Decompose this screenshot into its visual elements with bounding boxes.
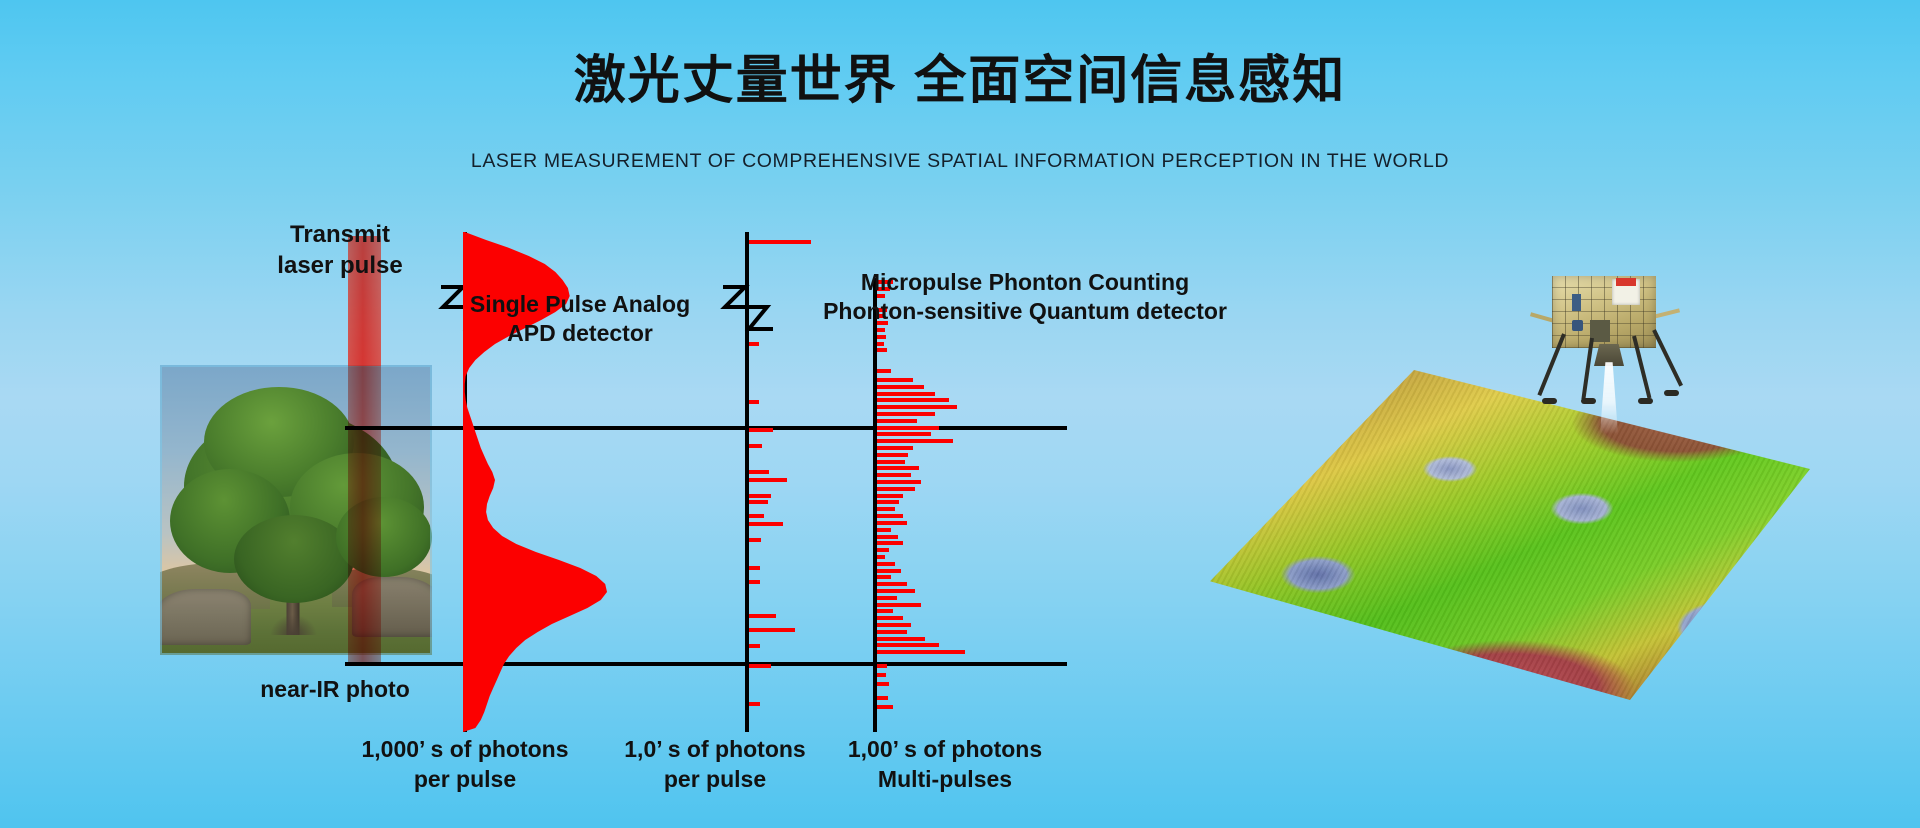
- lander-red-marking: [1616, 278, 1636, 286]
- lunar-lander: [1528, 276, 1688, 408]
- photon-return-bar: [749, 644, 760, 648]
- photon-return-bar: [877, 541, 903, 545]
- caption-analog-line2: per pulse: [330, 765, 600, 795]
- lidar-terrain-visualization: [1180, 270, 1880, 720]
- photon-return-bar: [877, 535, 898, 539]
- caption-micropulse-line1: 1,00’ s of photons: [820, 735, 1070, 765]
- photon-return-bar: [877, 487, 915, 491]
- photon-return-bar: [877, 460, 905, 464]
- photon-return-bar: [877, 398, 949, 402]
- photon-return-bar: [749, 500, 768, 504]
- photon-return-bar: [877, 426, 939, 430]
- photon-return-bar: [749, 494, 771, 498]
- caption-single-photon: 1,0’ s of photons per pulse: [600, 735, 830, 795]
- transmit-pulse-label-line1: Transmit: [230, 220, 450, 251]
- photon-return-bar: [877, 348, 887, 352]
- photon-return-bar: [877, 603, 921, 607]
- lidar-waveform-diagram: Transmit laser pulse Single Pulse Analog…: [0, 0, 1120, 828]
- photon-return-bar: [877, 673, 886, 677]
- photon-return-bar: [877, 555, 885, 559]
- photon-return-bar: [877, 405, 957, 409]
- photon-return-bar: [749, 522, 783, 526]
- photon-return-bar: [749, 664, 771, 668]
- photon-return-bar: [749, 240, 811, 244]
- photon-return-bar: [877, 569, 901, 573]
- photon-return-bar: [877, 637, 925, 641]
- near-ir-tree-photo: [160, 365, 432, 655]
- photon-return-bar: [877, 650, 965, 654]
- photon-return-bar: [749, 614, 776, 618]
- photon-return-bar: [877, 528, 891, 532]
- photon-return-bar: [877, 335, 886, 339]
- photon-return-bar: [877, 446, 913, 450]
- lander-footpad: [1638, 398, 1653, 404]
- photo-border: [160, 365, 432, 655]
- photon-return-bar: [877, 500, 899, 504]
- photon-return-bar: [749, 566, 760, 570]
- photon-return-bar: [749, 342, 759, 346]
- photon-return-bar: [877, 596, 897, 600]
- near-ir-photo-label: near-IR photo: [200, 675, 470, 704]
- photon-return-bar: [749, 702, 760, 706]
- photon-return-bar: [877, 630, 907, 634]
- photon-return-bar: [749, 538, 761, 542]
- photon-return-bar: [877, 696, 888, 700]
- terrain-texture: [1210, 370, 1810, 700]
- photon-return-bar: [877, 507, 895, 511]
- photon-return-bar: [877, 705, 893, 709]
- lander-footpad: [1542, 398, 1557, 404]
- single-pulse-label-line1: Single Pulse Analog: [430, 290, 730, 319]
- photon-return-bar: [877, 453, 908, 457]
- photon-return-bar: [749, 444, 762, 448]
- caption-single-photon-line2: per pulse: [600, 765, 830, 795]
- micropulse-histogram: [877, 278, 1052, 732]
- photon-return-bar: [877, 609, 893, 613]
- transmit-pulse-label: Transmit laser pulse: [230, 220, 450, 281]
- caption-micropulse: 1,00’ s of photons Multi-pulses: [820, 735, 1070, 795]
- photon-return-bar: [877, 575, 891, 579]
- single-pulse-label-line2: APD detector: [430, 319, 730, 348]
- photon-return-bar: [877, 480, 921, 484]
- photon-return-bar: [877, 582, 907, 586]
- transmit-pulse-label-line2: laser pulse: [230, 251, 450, 282]
- photon-return-bar: [877, 342, 884, 346]
- photon-return-bar: [877, 682, 889, 686]
- lander-instrument-left: [1572, 294, 1581, 311]
- photon-return-bar: [877, 664, 887, 668]
- photon-return-bar: [749, 428, 773, 432]
- lander-instrument-lower: [1572, 320, 1583, 331]
- caption-analog-line1: 1,000’ s of photons: [330, 735, 600, 765]
- photon-return-bar: [877, 378, 913, 382]
- photon-return-bar: [749, 400, 759, 404]
- single-pulse-detector-label: Single Pulse Analog APD detector: [430, 290, 730, 349]
- photon-return-bar: [877, 328, 885, 332]
- photon-return-bar: [877, 439, 953, 443]
- photon-return-bar: [749, 470, 769, 474]
- lander-engine-plume: [1600, 362, 1618, 434]
- photon-return-bar: [877, 623, 911, 627]
- photon-return-bar: [877, 616, 903, 620]
- photon-return-bar: [877, 466, 919, 470]
- photon-return-bar: [877, 392, 935, 396]
- photon-return-bar: [877, 494, 903, 498]
- lander-leg: [1652, 329, 1683, 386]
- photon-return-bar: [877, 548, 889, 552]
- caption-analog: 1,000’ s of photons per pulse: [330, 735, 600, 795]
- photon-return-bar: [749, 580, 760, 584]
- photon-return-bar: [877, 643, 939, 647]
- photon-return-bar: [877, 369, 891, 373]
- poster-canvas: 激光丈量世界 全面空间信息感知 LASER MEASUREMENT OF COM…: [0, 0, 1920, 828]
- caption-single-photon-line1: 1,0’ s of photons: [600, 735, 830, 765]
- photon-return-bar: [877, 412, 935, 416]
- photon-return-bar: [877, 432, 931, 436]
- photon-return-bar: [877, 562, 895, 566]
- photon-return-bar: [877, 521, 907, 525]
- photon-return-bar: [877, 473, 911, 477]
- lander-footpad: [1581, 398, 1596, 404]
- caption-micropulse-line2: Multi-pulses: [820, 765, 1070, 795]
- photon-return-bar: [877, 514, 903, 518]
- photon-return-bar: [749, 628, 795, 632]
- photon-return-bar: [877, 419, 917, 423]
- lander-footpad: [1664, 390, 1679, 396]
- laser-beam-overlay: [348, 236, 381, 666]
- photon-return-bar: [877, 589, 915, 593]
- photon-return-bar: [749, 514, 764, 518]
- photon-return-bar: [877, 385, 924, 389]
- photon-return-bar: [749, 478, 787, 482]
